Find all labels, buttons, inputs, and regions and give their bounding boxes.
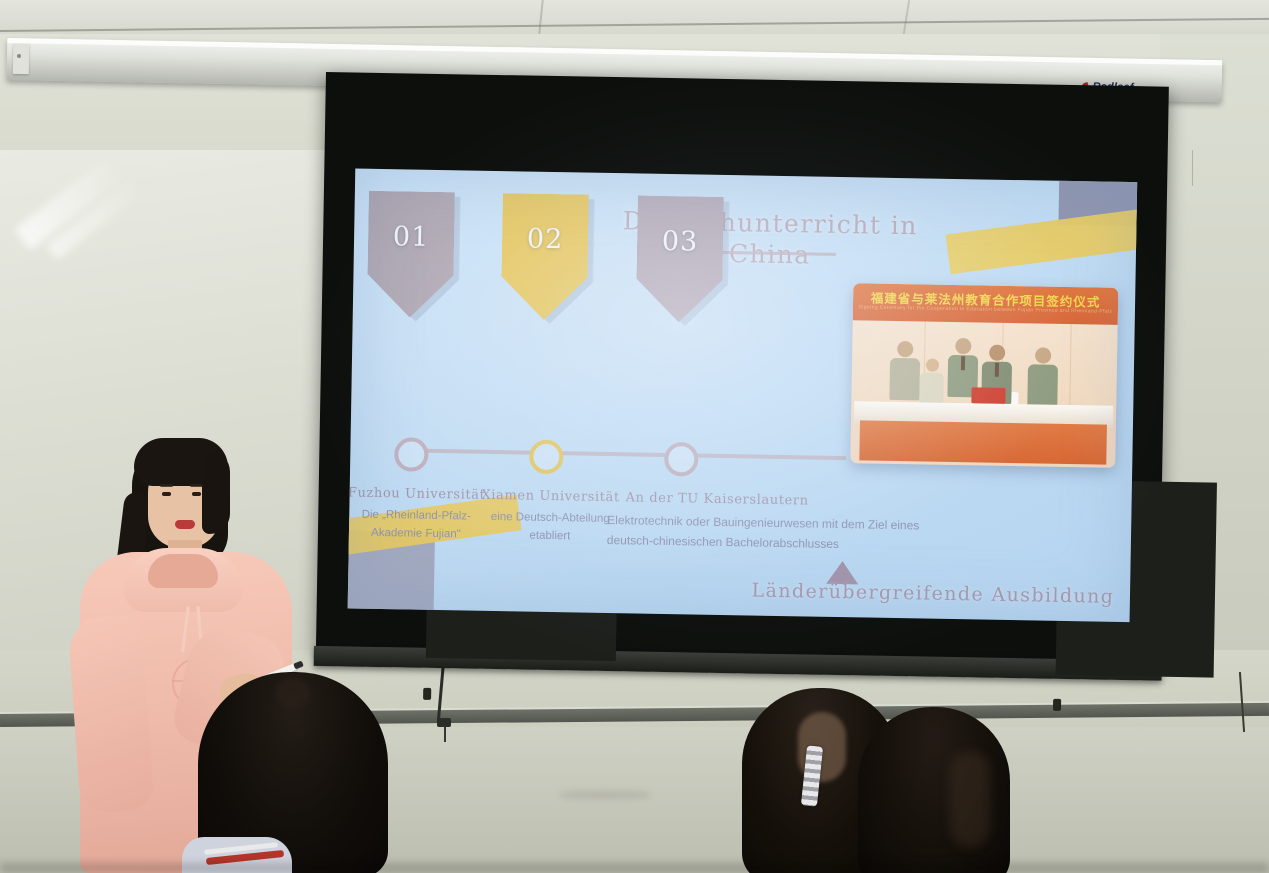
presenter-lips <box>175 520 195 529</box>
presentation-slide[interactable]: Deutschunterricht in China 01 02 03 <box>348 169 1138 623</box>
screen-strap-clip <box>423 688 431 700</box>
audience-head-left <box>198 672 388 873</box>
timeline-dot-03[interactable] <box>664 442 699 477</box>
caption-body: Die „Rheinland-Pfalz-Akademie Fujian" <box>348 505 492 545</box>
photo-person-tie <box>961 356 965 370</box>
pennant-number: 01 <box>393 221 430 253</box>
photo-signing-folder <box>971 387 1005 404</box>
photo-person <box>889 341 920 401</box>
presenter-eye <box>192 492 201 496</box>
photo-person <box>1027 347 1058 407</box>
projection-screen[interactable]: Deutschunterricht in China 01 02 03 <box>316 72 1169 667</box>
wall-cable <box>444 726 446 742</box>
pennant-step-02[interactable]: 02 <box>501 193 589 320</box>
photo-person-head <box>897 341 913 357</box>
presenter-sleeve-left <box>67 614 154 815</box>
decoration-top-right-yellow <box>945 209 1137 275</box>
presenter-pen-tip <box>293 661 304 670</box>
photo-person-head <box>925 359 938 372</box>
caption-body: Elektrotechnik oder Bauingenieurwesen mi… <box>607 510 938 557</box>
wall-scuff <box>560 790 650 800</box>
wall-mark <box>1192 150 1193 186</box>
screen-strap-clip <box>1053 699 1061 711</box>
caption-heading: Fuzhou Universität <box>348 484 492 505</box>
timeline-line <box>402 448 846 460</box>
presenter-eyebrow <box>190 484 203 487</box>
caption-heading: Xiamen Universität <box>475 487 625 508</box>
audience-hair-sheen <box>950 751 990 847</box>
photo-table-skirt <box>859 420 1107 464</box>
presenter-hood-inner <box>148 554 218 588</box>
presenter-eye <box>162 492 171 496</box>
photo-glass <box>1011 392 1018 404</box>
photo-person-tie <box>995 363 999 377</box>
timeline-dot-01[interactable] <box>394 437 429 472</box>
pennant-number: 02 <box>527 224 564 256</box>
presenter-hair-side <box>202 450 230 534</box>
photo-person-body <box>1027 364 1058 407</box>
bracket-screw <box>17 54 21 58</box>
photo-person-head <box>955 338 971 354</box>
caption-block-02: Xiamen Universität eine Deutsch-Abteilun… <box>475 487 626 548</box>
slide-tagline: Länderübergreifende Ausbildung <box>733 579 1133 608</box>
foreground-shadow <box>0 863 1269 873</box>
photo-person-body <box>889 358 920 401</box>
caption-block-01: Fuzhou Universität Die „Rheinland-Pfalz-… <box>348 484 492 545</box>
photo-person <box>919 358 944 406</box>
timeline-dot-02[interactable] <box>529 440 564 475</box>
signing-ceremony-photo: 福建省与莱法州教育合作项目签约仪式 Signing Ceremony for t… <box>850 283 1118 468</box>
pennant-number: 03 <box>662 226 699 258</box>
presenter-eyebrow <box>160 484 173 487</box>
audience-head-right <box>858 707 1010 873</box>
caption-body: eine Deutsch-Abteilung etabliert <box>475 508 626 548</box>
photo-person-head <box>989 345 1005 361</box>
caption-block-03: An der TU Kaiserslautern Elektrotechnik … <box>607 489 938 557</box>
housing-bracket <box>13 44 30 74</box>
audience-hair-part <box>276 678 310 708</box>
pennant-step-03[interactable]: 03 <box>636 195 724 322</box>
photo-person-head <box>1035 347 1051 363</box>
ceiling <box>0 0 1269 36</box>
pennant-step-01[interactable]: 01 <box>367 191 455 318</box>
classroom-photo: Redleaf Deutschunterricht in China <box>0 0 1269 873</box>
